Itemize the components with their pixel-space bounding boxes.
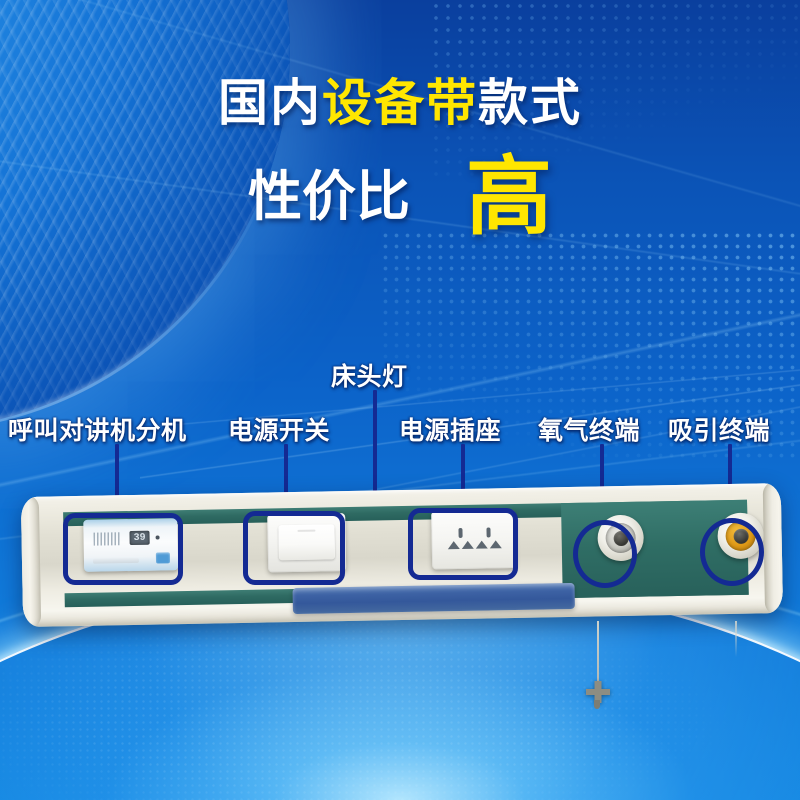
panel-end-cap-left [21,495,41,627]
highlight-circle-oxygen-terminal [573,520,637,588]
product-banner: 国内设备带款式 性价比高 呼叫对讲机分机 电源开关 床头灯 电源插座 氧气终端 … [0,0,800,800]
headline-line-1: 国内设备带款式 [0,78,800,128]
callout-label-nurse-call-intercom: 呼叫对讲机分机 [8,411,187,447]
highlight-box-power-socket [408,508,518,580]
highlight-box-power-switch [243,511,345,585]
callout-label-suction-terminal: 吸引终端 [668,411,770,447]
headline-seg-domestic: 国内 [218,75,322,131]
pull-cord-secondary [735,621,737,657]
headline-seg-style: 款式 [478,75,582,131]
highlight-circle-suction-terminal [700,518,764,586]
callout-label-oxygen-terminal: 氧气终端 [538,411,640,447]
panel-end-cap-right [763,483,783,615]
headline-block: 国内设备带款式 性价比高 [0,78,800,240]
highlight-box-nurse-call-intercom [63,513,183,585]
pull-cord-tip-icon [594,700,600,709]
bedside-lamp-diffuser[interactable] [293,583,575,614]
callout-label-bedside-lamp: 床头灯 [331,357,408,393]
callout-label-power-switch: 电源开关 [228,411,330,447]
headline-line-2: 性价比高 [0,154,800,240]
callout-label-power-socket: 电源插座 [399,411,501,447]
headline-seg-value-ratio: 性价比 [248,170,410,224]
headline-seg-equipment-belt: 设备带 [322,75,478,131]
headline-seg-high: 高 [466,154,552,240]
